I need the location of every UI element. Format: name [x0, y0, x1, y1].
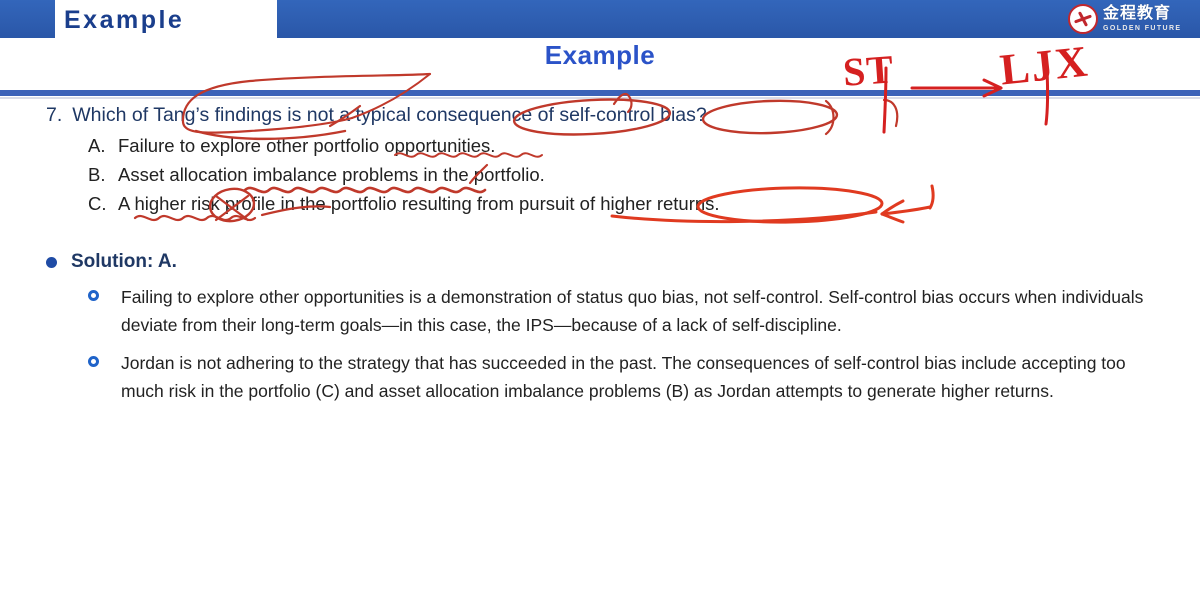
question-number: 7.	[46, 104, 62, 126]
brand-logo: 金程教育 GOLDEN FUTURE	[1068, 2, 1192, 36]
option-c-letter: C.	[88, 193, 118, 215]
explanation-item: Jordan is not adhering to the strategy t…	[88, 349, 1163, 405]
option-a[interactable]: A. Failure to explore other portfolio op…	[88, 135, 720, 164]
question-line: 7.Which of Tang’s findings is not a typi…	[46, 104, 707, 127]
logo-chinese-name: 金程教育	[1103, 6, 1181, 22]
explanation-item: Failing to explore other opportunities i…	[88, 283, 1163, 339]
solution-explanations: Failing to explore other opportunities i…	[88, 283, 1163, 415]
logo-english-name: GOLDEN FUTURE	[1103, 25, 1181, 32]
page-title: Example	[64, 4, 274, 36]
option-b-text: Asset allocation imbalance problems in t…	[118, 164, 545, 186]
explanation-text-2: Jordan is not adhering to the strategy t…	[121, 349, 1163, 405]
solution-label: Solution: A.	[71, 251, 177, 273]
option-b[interactable]: B. Asset allocation imbalance problems i…	[88, 164, 720, 193]
option-a-text: Failure to explore other portfolio oppor…	[118, 135, 495, 157]
filled-bullet-icon	[46, 257, 57, 268]
handwriting-annotation-st: ST	[841, 45, 895, 95]
question-text: Which of Tang’s findings is not a typica…	[72, 104, 706, 126]
handwriting-annotation-ljx: LJX	[998, 35, 1092, 95]
divider-rule-thin	[0, 97, 1200, 99]
solution-heading: Solution: A.	[46, 251, 177, 273]
hollow-bullet-icon	[88, 290, 99, 301]
slide: Example 金程教育 GOLDEN FUTURE Example 7.Whi…	[0, 0, 1200, 600]
option-a-letter: A.	[88, 135, 118, 157]
option-b-letter: B.	[88, 164, 118, 186]
question-options: A. Failure to explore other portfolio op…	[88, 135, 720, 222]
option-c-text: A higher risk profile in the portfolio r…	[118, 193, 720, 215]
golden-future-emblem-icon	[1068, 4, 1098, 34]
option-c[interactable]: C. A higher risk profile in the portfoli…	[88, 193, 720, 222]
hollow-bullet-icon	[88, 356, 99, 367]
explanation-text-1: Failing to explore other opportunities i…	[121, 283, 1163, 339]
